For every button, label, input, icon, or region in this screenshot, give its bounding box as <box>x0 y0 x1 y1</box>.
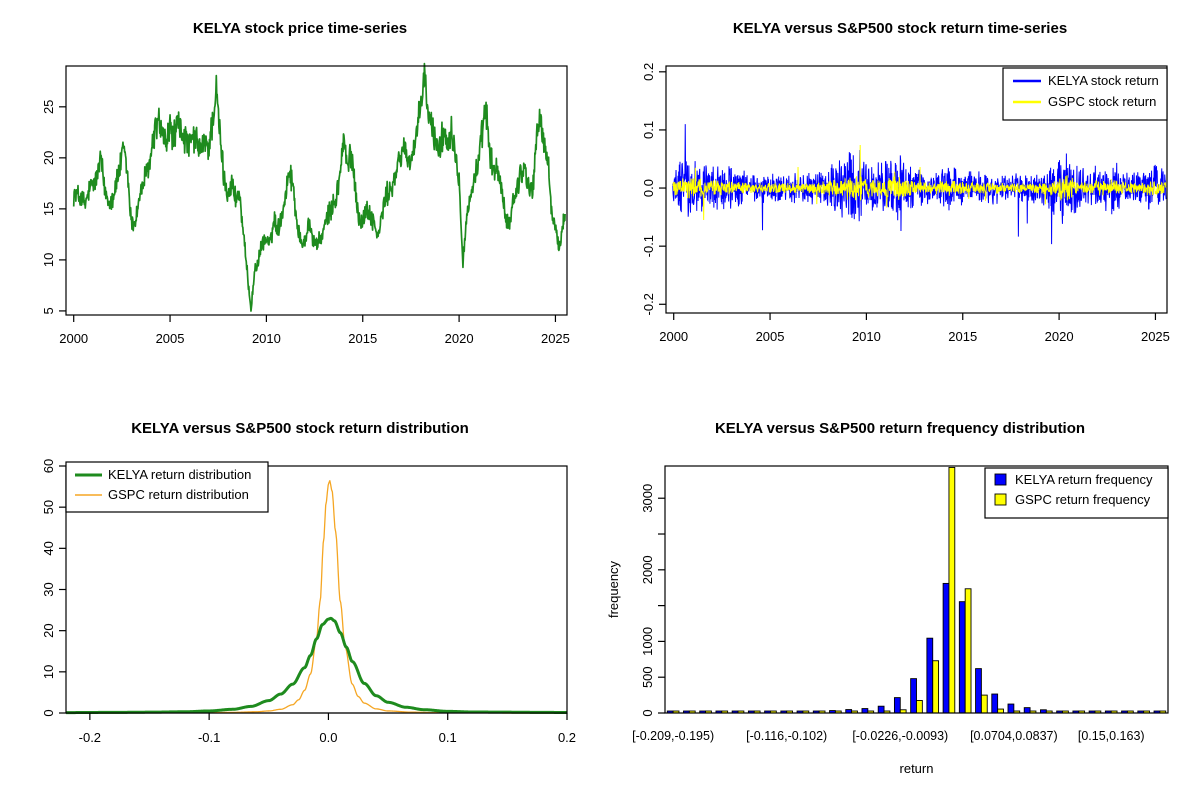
x-tick-label: 2025 <box>1141 329 1170 344</box>
x-tick-label: 2025 <box>541 331 570 346</box>
x-bin-label: [-0.0226,-0.0093) <box>852 729 948 743</box>
density-line-gspc <box>66 481 567 713</box>
x-tick-label: -0.2 <box>79 730 101 745</box>
legend-label: GSPC return frequency <box>1015 492 1151 507</box>
y-tick-label: -0.2 <box>641 293 656 315</box>
x-tick-label: 2005 <box>756 329 785 344</box>
returns-legend: KELYA stock returnGSPC stock return <box>1003 68 1167 120</box>
legend-label: GSPC return distribution <box>108 487 249 502</box>
x-tick-label: 2015 <box>948 329 977 344</box>
panel-distribution: KELYA versus S&P500 stock return distrib… <box>0 400 600 800</box>
x-tick-label: -0.1 <box>198 730 220 745</box>
y-tick-label: 15 <box>41 202 56 216</box>
frequency-chart: 0500100020003000[-0.209,-0.195)[-0.116,-… <box>600 400 1200 800</box>
bar-gspc <box>949 467 955 713</box>
y-tick-label: 0.2 <box>641 63 656 81</box>
y-tick-label: 10 <box>41 665 56 679</box>
figure-grid: KELYA stock price time-series 5101520252… <box>0 0 1200 800</box>
bar-kelya <box>878 706 884 713</box>
bar-kelya <box>1008 704 1014 713</box>
price-line <box>74 64 565 311</box>
bar-kelya <box>976 669 982 713</box>
y-tick-label: 3000 <box>640 484 655 513</box>
y-tick-label: 30 <box>41 582 56 596</box>
y-tick-label: 10 <box>41 253 56 267</box>
y-tick-label: 2000 <box>640 555 655 584</box>
legend-label: KELYA stock return <box>1048 73 1159 88</box>
density-line-kelya <box>66 618 567 712</box>
bar-kelya <box>992 694 998 713</box>
x-tick-label: 2010 <box>852 329 881 344</box>
y-tick-label: 25 <box>41 100 56 114</box>
y-tick-label: 0.0 <box>641 179 656 197</box>
bar-gspc <box>933 661 939 713</box>
x-tick-label: 2020 <box>445 331 474 346</box>
x-tick-label: 2020 <box>1045 329 1074 344</box>
x-tick-label: 0.0 <box>319 730 337 745</box>
bar-gspc <box>965 589 971 713</box>
x-tick-label: 2015 <box>348 331 377 346</box>
x-bin-label: [0.0704,0.0837) <box>970 729 1058 743</box>
x-tick-label: 2005 <box>156 331 185 346</box>
returns-chart: -0.2-0.10.00.10.220002005201020152020202… <box>600 0 1200 400</box>
legend-label: KELYA return distribution <box>108 467 251 482</box>
y-axis-title: frequency <box>606 560 621 618</box>
legend-label: KELYA return frequency <box>1015 472 1153 487</box>
bar-kelya <box>911 679 917 713</box>
panel-returns: KELYA versus S&P500 stock return time-se… <box>600 0 1200 400</box>
price-chart: 510152025200020052010201520202025 <box>0 0 600 400</box>
x-tick-label: 0.2 <box>558 730 576 745</box>
bar-kelya <box>894 698 900 713</box>
y-tick-label: 1000 <box>640 627 655 656</box>
distribution-chart: 0102030405060-0.2-0.10.00.10.2KELYA retu… <box>0 400 600 800</box>
x-bin-label: [0.15,0.163) <box>1078 729 1145 743</box>
panel-frequency: KELYA versus S&P500 return frequency dis… <box>600 400 1200 800</box>
x-bin-label: [-0.209,-0.195) <box>632 729 714 743</box>
x-tick-label: 2010 <box>252 331 281 346</box>
y-tick-label: 50 <box>41 500 56 514</box>
legend-label: GSPC stock return <box>1048 94 1156 109</box>
y-tick-label: 40 <box>41 541 56 555</box>
x-tick-label: 2000 <box>659 329 688 344</box>
bar-kelya <box>943 583 949 713</box>
y-tick-label: 0 <box>41 709 56 716</box>
bar-kelya <box>959 602 965 713</box>
legend-swatch <box>995 474 1006 485</box>
y-tick-label: -0.1 <box>641 235 656 257</box>
bar-gspc <box>981 695 987 713</box>
bar-gspc <box>917 700 923 713</box>
y-tick-label: 60 <box>41 459 56 473</box>
y-tick-label: 20 <box>41 151 56 165</box>
x-tick-label: 2000 <box>59 331 88 346</box>
panel-price: KELYA stock price time-series 5101520252… <box>0 0 600 400</box>
y-tick-label: 5 <box>41 307 56 314</box>
y-tick-label: 0 <box>640 709 655 716</box>
y-tick-label: 500 <box>640 666 655 688</box>
x-bin-label: [-0.116,-0.102) <box>746 729 827 743</box>
legend-swatch <box>995 494 1006 505</box>
x-tick-label: 0.1 <box>439 730 457 745</box>
distribution-legend: KELYA return distributionGSPC return dis… <box>66 462 268 512</box>
x-axis-title: return <box>900 761 934 776</box>
bar-kelya <box>862 709 868 713</box>
frequency-legend: KELYA return frequencyGSPC return freque… <box>985 468 1168 518</box>
y-tick-label: 0.1 <box>641 121 656 139</box>
bar-kelya <box>927 638 933 713</box>
bar-kelya <box>1024 708 1030 713</box>
y-tick-label: 20 <box>41 623 56 637</box>
